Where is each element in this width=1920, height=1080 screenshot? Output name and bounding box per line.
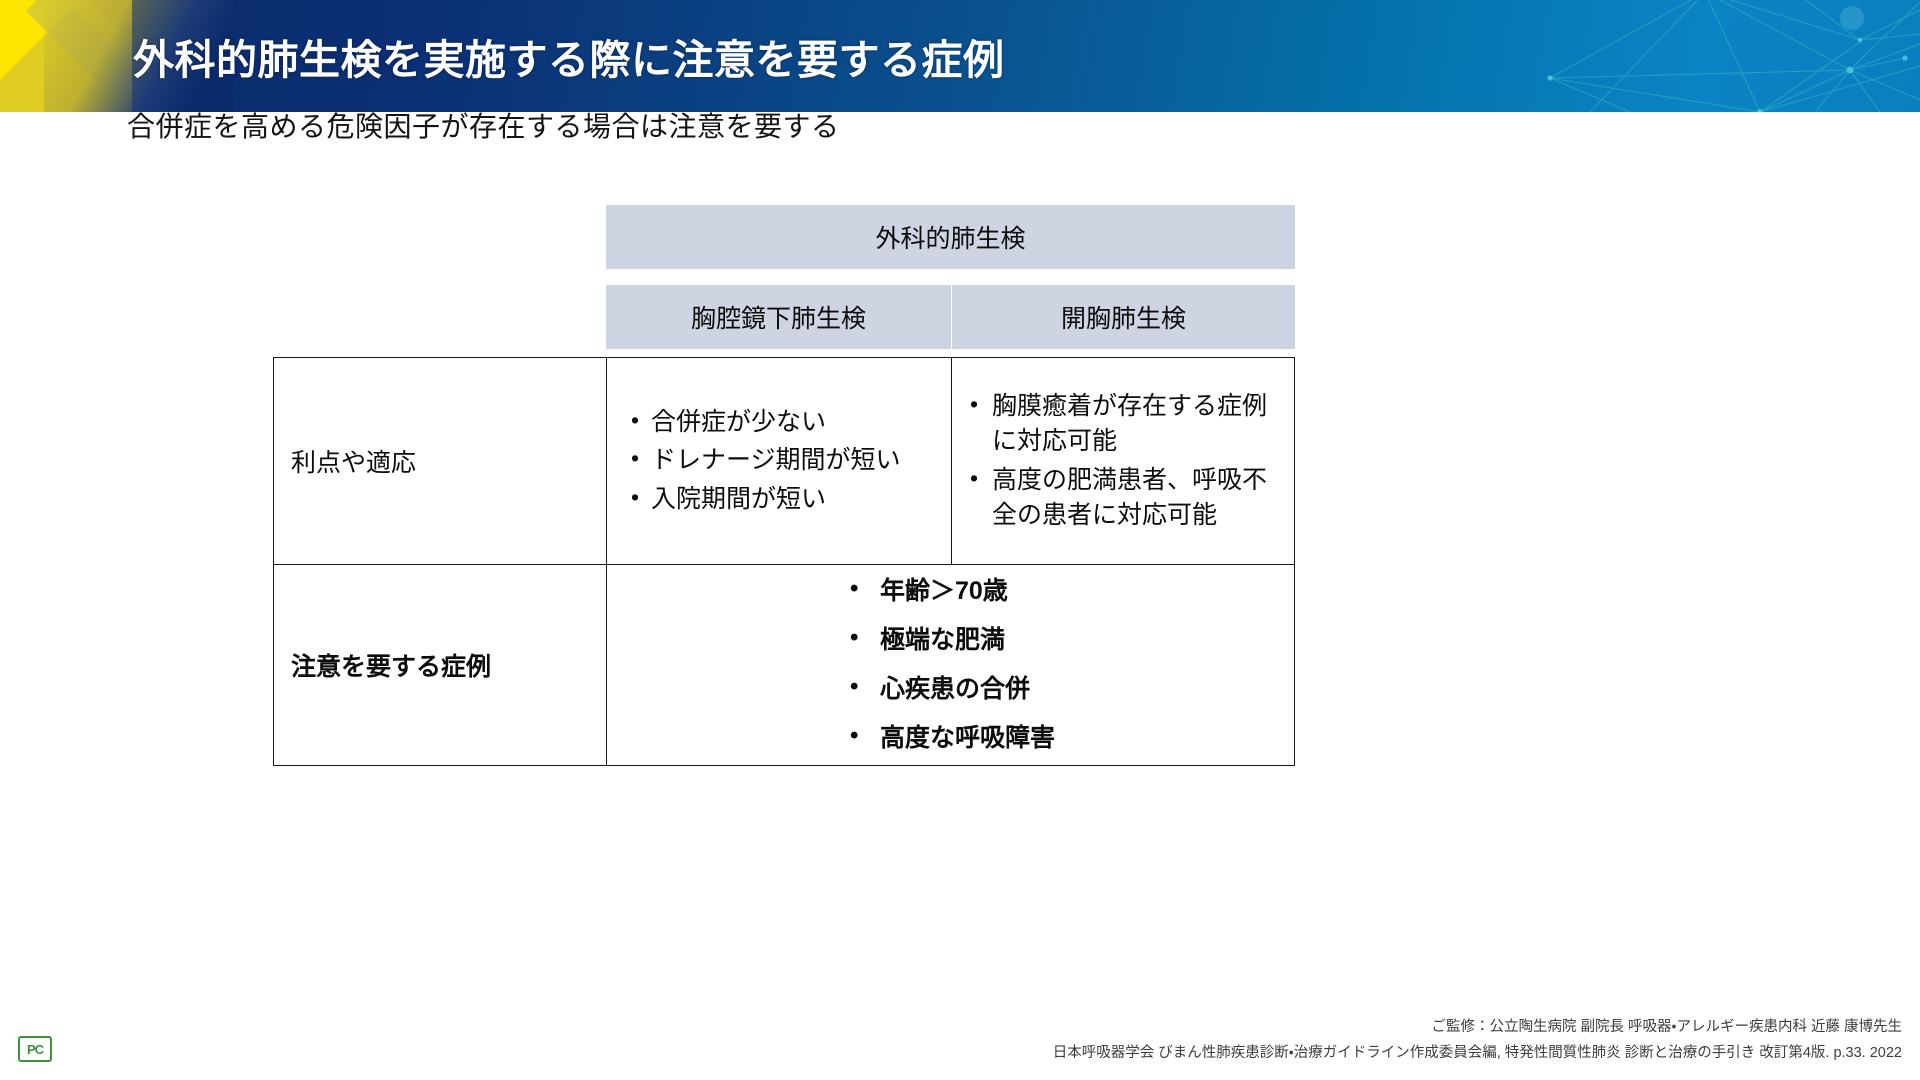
subtitle: 合併症を高める危険因子が存在する場合は注意を要する [127,105,840,145]
list-item: 心疾患の合併 [846,677,1055,702]
list-item: ドレナージ期間が短い [629,443,941,479]
row-label-advantages: 利点や適応 [274,358,607,564]
cell-thoracoscopic-advantages: 合併症が少ない ドレナージ期間が短い 入院期間が短い [607,358,952,564]
bullet-list: 合併症が少ない ドレナージ期間が短い 入院期間が短い [629,402,941,521]
list-item: 高度な呼吸障害 [846,726,1055,751]
footer-reference-line: 日本呼吸器学会 びまん性肺疾患診断・治療ガイドライン作成委員会編, 特発性間質性… [1053,1041,1902,1066]
slide-header: 外科的肺生検を実施する際に注意を要する症例 [0,0,1920,112]
list-item: 胸膜癒着が存在する症例に対応可能 [968,389,1280,460]
table-row: 利点や適応 合併症が少ない ドレナージ期間が短い 入院期間が短い 胸膜癒着が存在… [274,358,1294,565]
bullet-list: 年齢＞70歳 極端な肥満 心疾患の合併 高度な呼吸障害 [846,579,1055,751]
slide: 外科的肺生検を実施する際に注意を要する症例 合併症を高める危険因子が存在する場合… [0,0,1920,1080]
cell-caution-cases-merged: 年齢＞70歳 極端な肥満 心疾患の合併 高度な呼吸障害 [607,565,1294,765]
list-item: 高度の肥満患者、呼吸不全の患者に対応可能 [968,463,1280,534]
network-graphic-decoration [1160,0,1920,112]
list-item: 入院期間が短い [629,482,941,518]
table-row: 注意を要する症例 年齢＞70歳 極端な肥満 心疾患の合併 高度な呼吸障害 [274,565,1294,765]
bullet-list: 胸膜癒着が存在する症例に対応可能 高度の肥満患者、呼吸不全の患者に対応可能 [968,386,1280,537]
table-subheader-thoracoscopic: 胸腔鏡下肺生検 [606,285,951,349]
list-item: 年齢＞70歳 [846,579,1055,604]
page-title: 外科的肺生検を実施する際に注意を要する症例 [133,26,1005,86]
footer-citation: ご監修：公立陶生病院 副院長 呼吸器・アレルギー疾患内科 近藤 康博先生 日本呼… [1053,1015,1902,1066]
brand-logo: PC [18,1036,52,1062]
list-item: 極端な肥満 [846,628,1055,653]
row-label-caution-cases: 注意を要する症例 [274,565,607,765]
list-item: 合併症が少ない [629,405,941,441]
footer-supervisor-line: ご監修：公立陶生病院 副院長 呼吸器・アレルギー疾患内科 近藤 康博先生 [1053,1015,1902,1040]
table-header-surgical-lung-biopsy: 外科的肺生検 [606,205,1295,269]
table-body: 利点や適応 合併症が少ない ドレナージ期間が短い 入院期間が短い 胸膜癒着が存在… [273,357,1295,766]
table-subheader-open-thoracotomy: 開胸肺生検 [952,285,1295,349]
cell-open-thoracotomy-advantages: 胸膜癒着が存在する症例に対応可能 高度の肥満患者、呼吸不全の患者に対応可能 [952,358,1294,564]
